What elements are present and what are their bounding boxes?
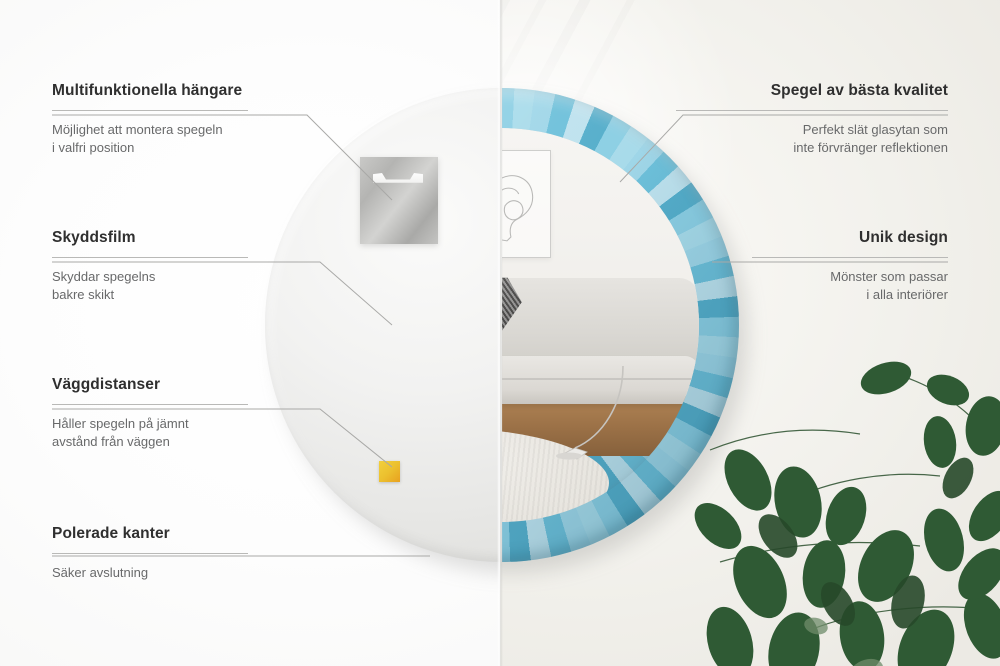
- reflection-arc-floor-lamp: [545, 364, 629, 462]
- infographic-stage: Multifunktionella hängare Möjlighet att …: [0, 0, 1000, 666]
- callout-hangare-title: Multifunktionella hängare: [52, 82, 248, 101]
- callout-vaggdistanser-rule: [52, 404, 248, 405]
- callout-hangare-description: Möjlighet att montera spegelni valfri po…: [52, 121, 248, 158]
- panel-split-divider: [497, 0, 503, 666]
- callout-skyddsfilm: Skyddsfilm Skyddar spegelnsbakre skikt: [52, 229, 248, 305]
- arc-lamp-icon: [545, 364, 629, 462]
- callout-polerade-kanter: Polerade kanter Säker avslutning: [52, 525, 248, 582]
- callout-spegel-kvalitet-rule: [676, 110, 948, 111]
- hanger-keyhole-slot: [373, 173, 423, 187]
- callout-spegel-kvalitet-description: Perfekt slät glasytan sominte förvränger…: [648, 121, 948, 158]
- callout-vaggdistanser: Väggdistanser Håller spegeln på jämntavs…: [52, 376, 248, 452]
- callout-polerade-kanter-description: Säker avslutning: [52, 564, 248, 582]
- callout-spegel-kvalitet-title: Spegel av bästa kvalitet: [648, 82, 948, 101]
- callout-skyddsfilm-rule: [52, 257, 248, 258]
- callout-unik-design-title: Unik design: [698, 229, 948, 248]
- callout-hangare-rule: [52, 110, 248, 111]
- callout-unik-design: Unik design Mönster som passari alla int…: [698, 229, 948, 305]
- leaves-icon: [690, 330, 1000, 666]
- callout-skyddsfilm-title: Skyddsfilm: [52, 229, 248, 248]
- foliage-decoration: [690, 330, 1000, 666]
- callout-unik-design-description: Mönster som passari alla interiörer: [698, 268, 948, 305]
- callout-polerade-kanter-title: Polerade kanter: [52, 525, 248, 544]
- callout-polerade-kanter-rule: [52, 553, 248, 554]
- callout-hangare: Multifunktionella hängare Möjlighet att …: [52, 82, 248, 158]
- callout-skyddsfilm-description: Skyddar spegelnsbakre skikt: [52, 268, 248, 305]
- hanger-plate: [360, 157, 438, 244]
- callout-vaggdistanser-description: Håller spegeln på jämntavstånd från vägg…: [52, 415, 248, 452]
- wall-spacer-block: [379, 461, 400, 482]
- callout-spegel-kvalitet: Spegel av bästa kvalitet Perfekt slät gl…: [648, 82, 948, 158]
- callout-vaggdistanser-title: Väggdistanser: [52, 376, 248, 395]
- callout-unik-design-rule: [752, 257, 948, 258]
